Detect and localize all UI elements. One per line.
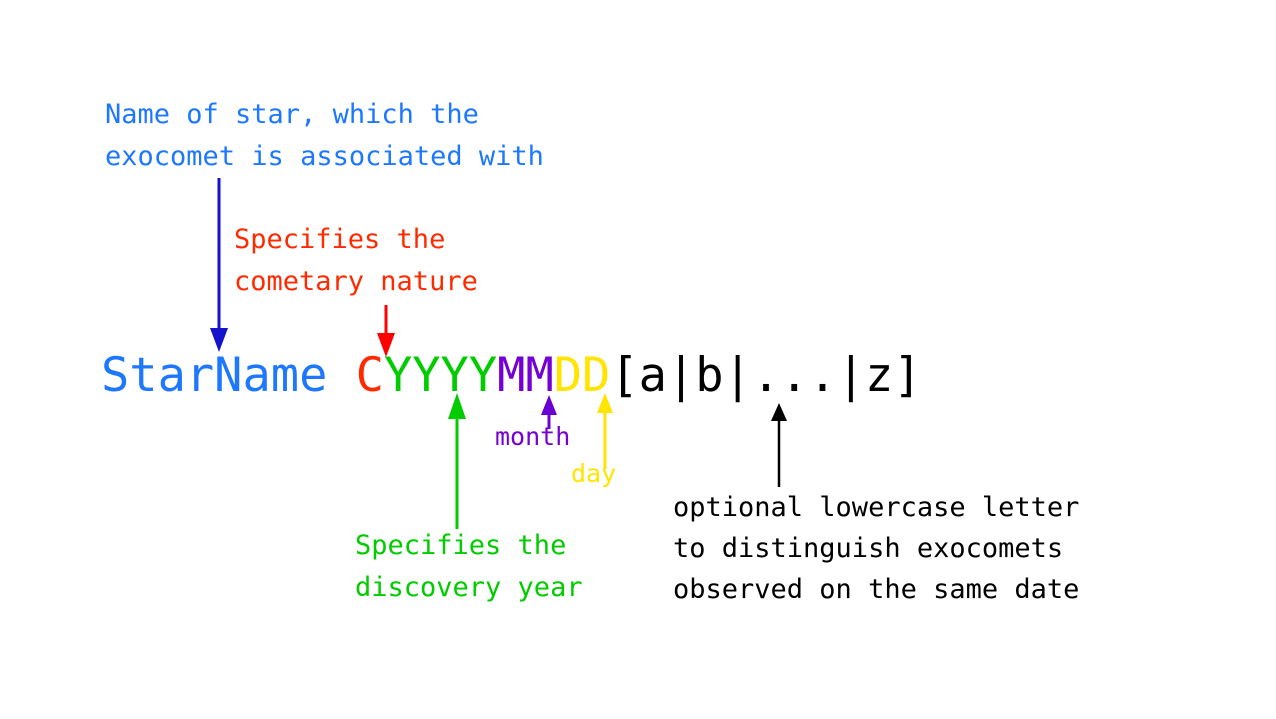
- label-day: day: [571, 458, 616, 490]
- label-month: month: [495, 421, 570, 453]
- formula-star-name: StarName: [101, 348, 327, 403]
- annotation-cometary-nature: Specifies the cometary nature: [234, 219, 478, 303]
- optional-arrow-icon: [767, 403, 791, 487]
- diagram-canvas: Name of star, which the exocomet is asso…: [0, 0, 1276, 719]
- formula-year: YYYY: [384, 348, 497, 403]
- star-arrow-icon: [206, 178, 232, 354]
- formula-comet-prefix: C: [356, 348, 384, 403]
- naming-formula: StarName CYYYYMMDD[a|b|...|z]: [101, 350, 922, 402]
- formula-optional-suffix: [a|b|...|z]: [610, 348, 921, 403]
- year-arrow-icon: [445, 393, 469, 529]
- annotation-star-name: Name of star, which the exocomet is asso…: [105, 94, 544, 178]
- annotation-discovery-year: Specifies the discovery year: [355, 525, 583, 609]
- annotation-optional-letter: optional lowercase letter to distinguish…: [673, 487, 1079, 610]
- formula-separator: [327, 348, 355, 403]
